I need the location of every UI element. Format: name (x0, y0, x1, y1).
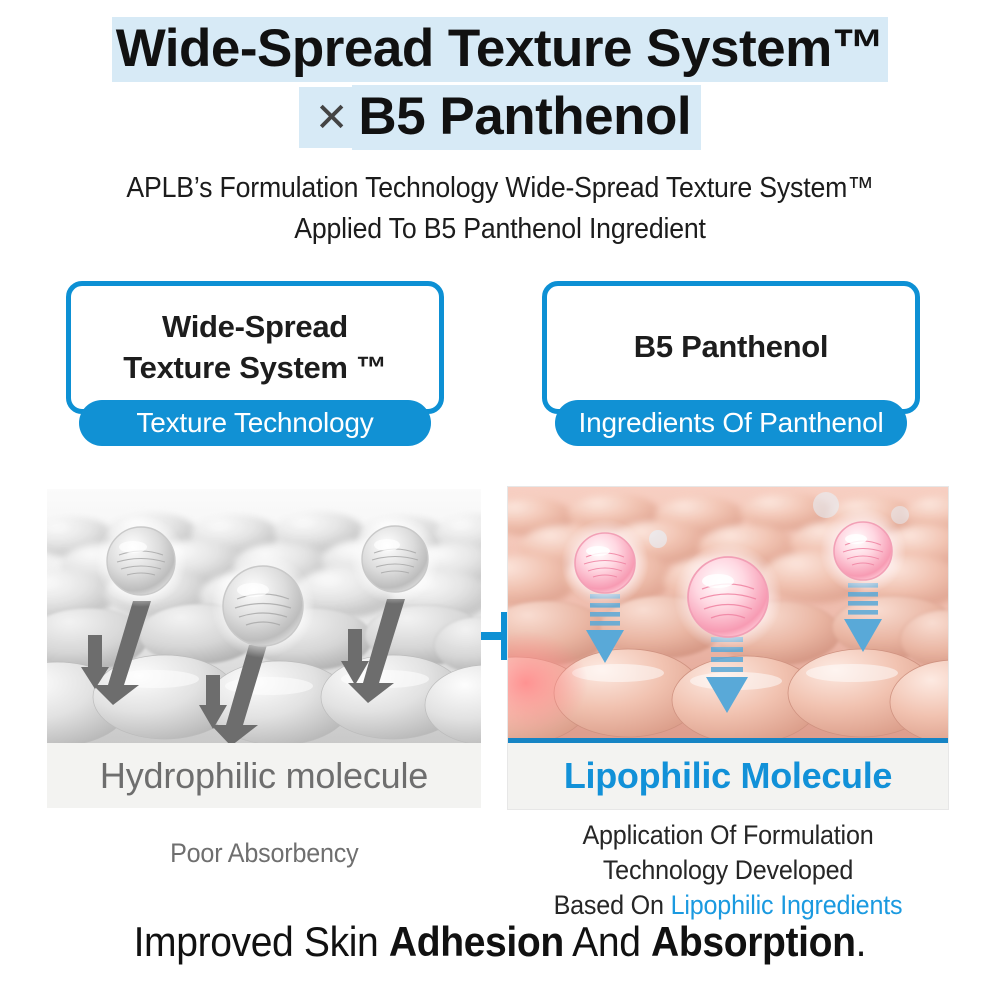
panel-lipophilic-caption-bar: Lipophilic Molecule (508, 738, 948, 809)
footer-statement: Improved Skin Adhesion And Absorption. (0, 918, 1000, 966)
card-texture-system-title-line-2: Texture System ™ (123, 348, 386, 388)
card-b5-panthenol: B5 Panthenol Ingredients Of Panthenol (542, 281, 920, 414)
title-line-1-text: Wide-Spread Texture System™ (112, 17, 888, 82)
card-texture-system-body: Wide-Spread Texture System ™ (66, 281, 444, 414)
card-texture-system-title-line-1: Wide-Spread (123, 307, 386, 347)
lipophilic-under-line-2: Technology Developed (523, 853, 932, 888)
card-texture-system: Wide-Spread Texture System ™ Texture Tec… (66, 281, 444, 414)
page-title: Wide-Spread Texture System™ ✕B5 Pantheno… (0, 22, 1000, 147)
subtitle: APLB’s Formulation Technology Wide-Sprea… (0, 168, 1000, 250)
panel-lipophilic-artwork (508, 487, 948, 743)
cross-icon: ✕ (299, 87, 353, 148)
card-b5-panthenol-badge: Ingredients Of Panthenol (555, 400, 907, 446)
footer-prefix: Improved Skin (134, 918, 389, 965)
footer-bold-adhesion: Adhesion (389, 918, 564, 965)
lipophilic-under-line-1: Application Of Formulation (523, 818, 932, 853)
panel-hydrophilic-caption: Hydrophilic molecule (100, 755, 428, 797)
card-texture-system-title: Wide-Spread Texture System ™ (115, 307, 394, 388)
formula-boxes: Wide-Spread Texture System ™ Texture Tec… (0, 281, 1000, 466)
lipophilic-under-line-3-prefix: Based On (554, 890, 671, 920)
footer-suffix: . (856, 918, 866, 965)
footer-middle: And (564, 918, 651, 965)
lipophilic-ingredients-accent: Lipophilic Ingredients (671, 890, 903, 920)
subtitle-line-1: APLB’s Formulation Technology Wide-Sprea… (40, 168, 960, 209)
card-b5-panthenol-title: B5 Panthenol (626, 327, 836, 367)
panel-lipophilic-caption: Lipophilic Molecule (564, 755, 892, 797)
footer-statement-inner: Improved Skin Adhesion And Absorption. (134, 918, 867, 966)
title-line-2: ✕B5 Panthenol (0, 86, 1000, 147)
subtitle-line-2: Applied To B5 Panthenol Ingredient (40, 209, 960, 250)
footer-bold-absorption: Absorption (651, 918, 856, 965)
panel-hydrophilic-caption-bar: Hydrophilic molecule (47, 743, 481, 808)
panel-hydrophilic-artwork (47, 489, 481, 743)
card-b5-panthenol-body: B5 Panthenol (542, 281, 920, 414)
title-line-2-text: B5 Panthenol (352, 85, 701, 150)
infographic-page: Wide-Spread Texture System™ ✕B5 Pantheno… (0, 0, 1000, 1000)
card-texture-system-badge: Texture Technology (79, 400, 431, 446)
panel-hydrophilic-under-caption: Poor Absorbency (47, 838, 481, 869)
panel-lipophilic-under-caption: Application Of Formulation Technology De… (508, 818, 948, 923)
panel-hydrophilic: Hydrophilic molecule (47, 489, 481, 808)
title-line-1: Wide-Spread Texture System™ (0, 22, 1000, 77)
poor-absorbency-text: Poor Absorbency (170, 838, 358, 869)
panel-lipophilic: Lipophilic Molecule (508, 487, 948, 809)
